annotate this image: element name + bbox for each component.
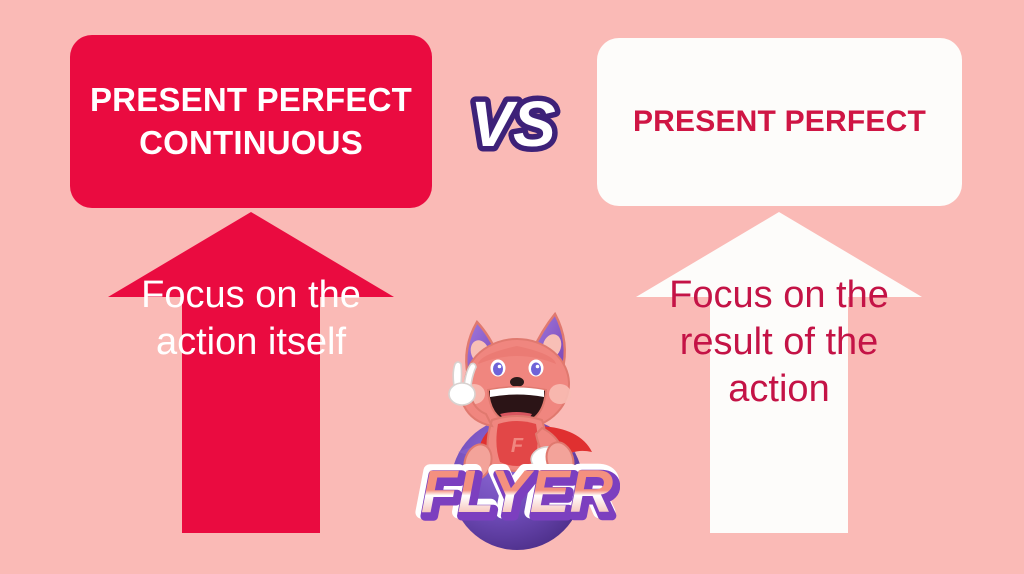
card-left-label: PRESENT PERFECT CONTINUOUS bbox=[70, 79, 432, 163]
versus-label: VS bbox=[470, 88, 556, 160]
card-present-perfect-continuous: PRESENT PERFECT CONTINUOUS bbox=[70, 35, 432, 208]
card-right-label: PRESENT PERFECT bbox=[619, 103, 940, 141]
infographic-canvas: PRESENT PERFECT CONTINUOUS PRESENT PERFE… bbox=[0, 0, 1024, 574]
card-present-perfect: PRESENT PERFECT bbox=[597, 38, 962, 206]
arrow-left-shape bbox=[108, 212, 394, 533]
arrow-up-right bbox=[634, 210, 924, 535]
arrow-right-shape bbox=[636, 212, 922, 533]
mascot-wordmark: FLYER FLYER FLYER bbox=[421, 458, 616, 529]
mascot-peace-hand bbox=[449, 362, 476, 405]
arrow-up-left bbox=[106, 210, 396, 535]
versus-badge: VS VS bbox=[452, 82, 574, 166]
mascot-wordmark-label: FLYER bbox=[421, 458, 613, 525]
flyer-mascot-logo: F FLYER FLYER bbox=[414, 302, 620, 554]
mascot-chest-letter: F bbox=[511, 435, 524, 457]
